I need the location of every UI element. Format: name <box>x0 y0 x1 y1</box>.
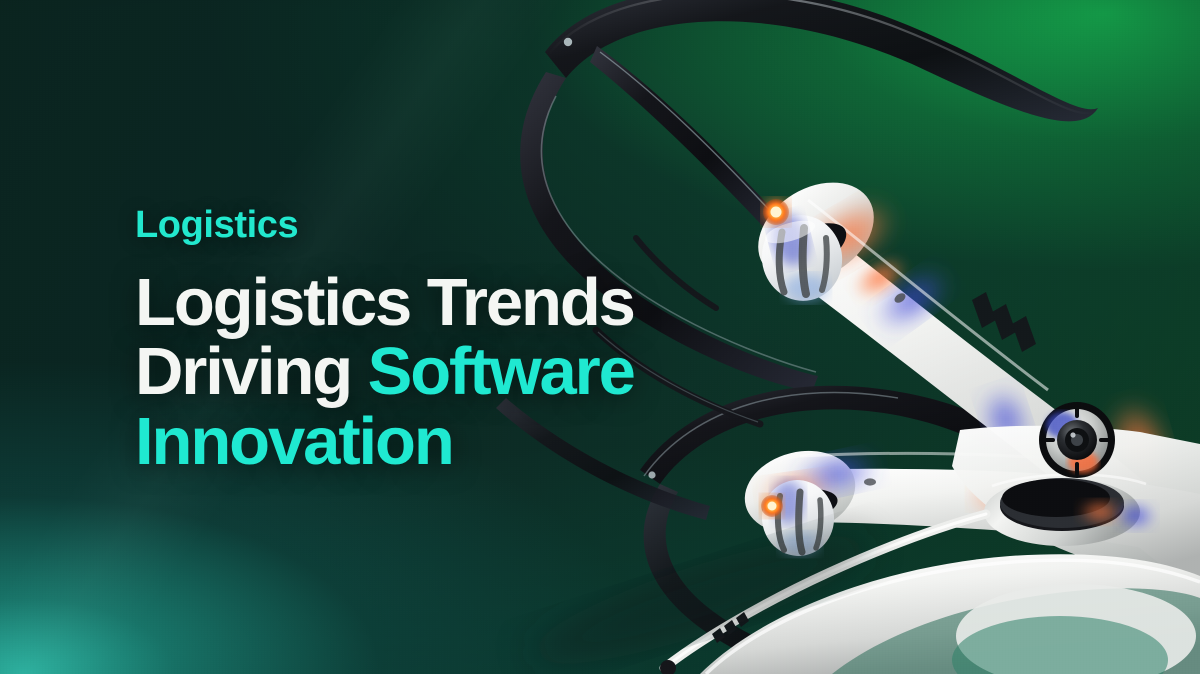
camera-gimbal-module <box>1039 402 1115 478</box>
headline-line-2-accent: Software <box>368 334 634 409</box>
headline-line-2: Driving Software <box>135 337 755 406</box>
headline-line-3: Innovation <box>135 407 755 476</box>
headline-line-1: Logistics Trends <box>135 268 755 337</box>
category-eyebrow: Logistics <box>135 206 755 246</box>
arm-stripes <box>972 292 1036 352</box>
led-indicator-upper <box>763 199 789 225</box>
led-indicator-lower <box>761 495 783 517</box>
page-title: Logistics Trends Driving Software Innova… <box>135 268 755 476</box>
headline-line-2-plain: Driving <box>135 334 368 409</box>
hero-copy: Logistics Logistics Trends Driving Softw… <box>135 206 755 476</box>
hero-banner: Logistics Logistics Trends Driving Softw… <box>0 0 1200 674</box>
